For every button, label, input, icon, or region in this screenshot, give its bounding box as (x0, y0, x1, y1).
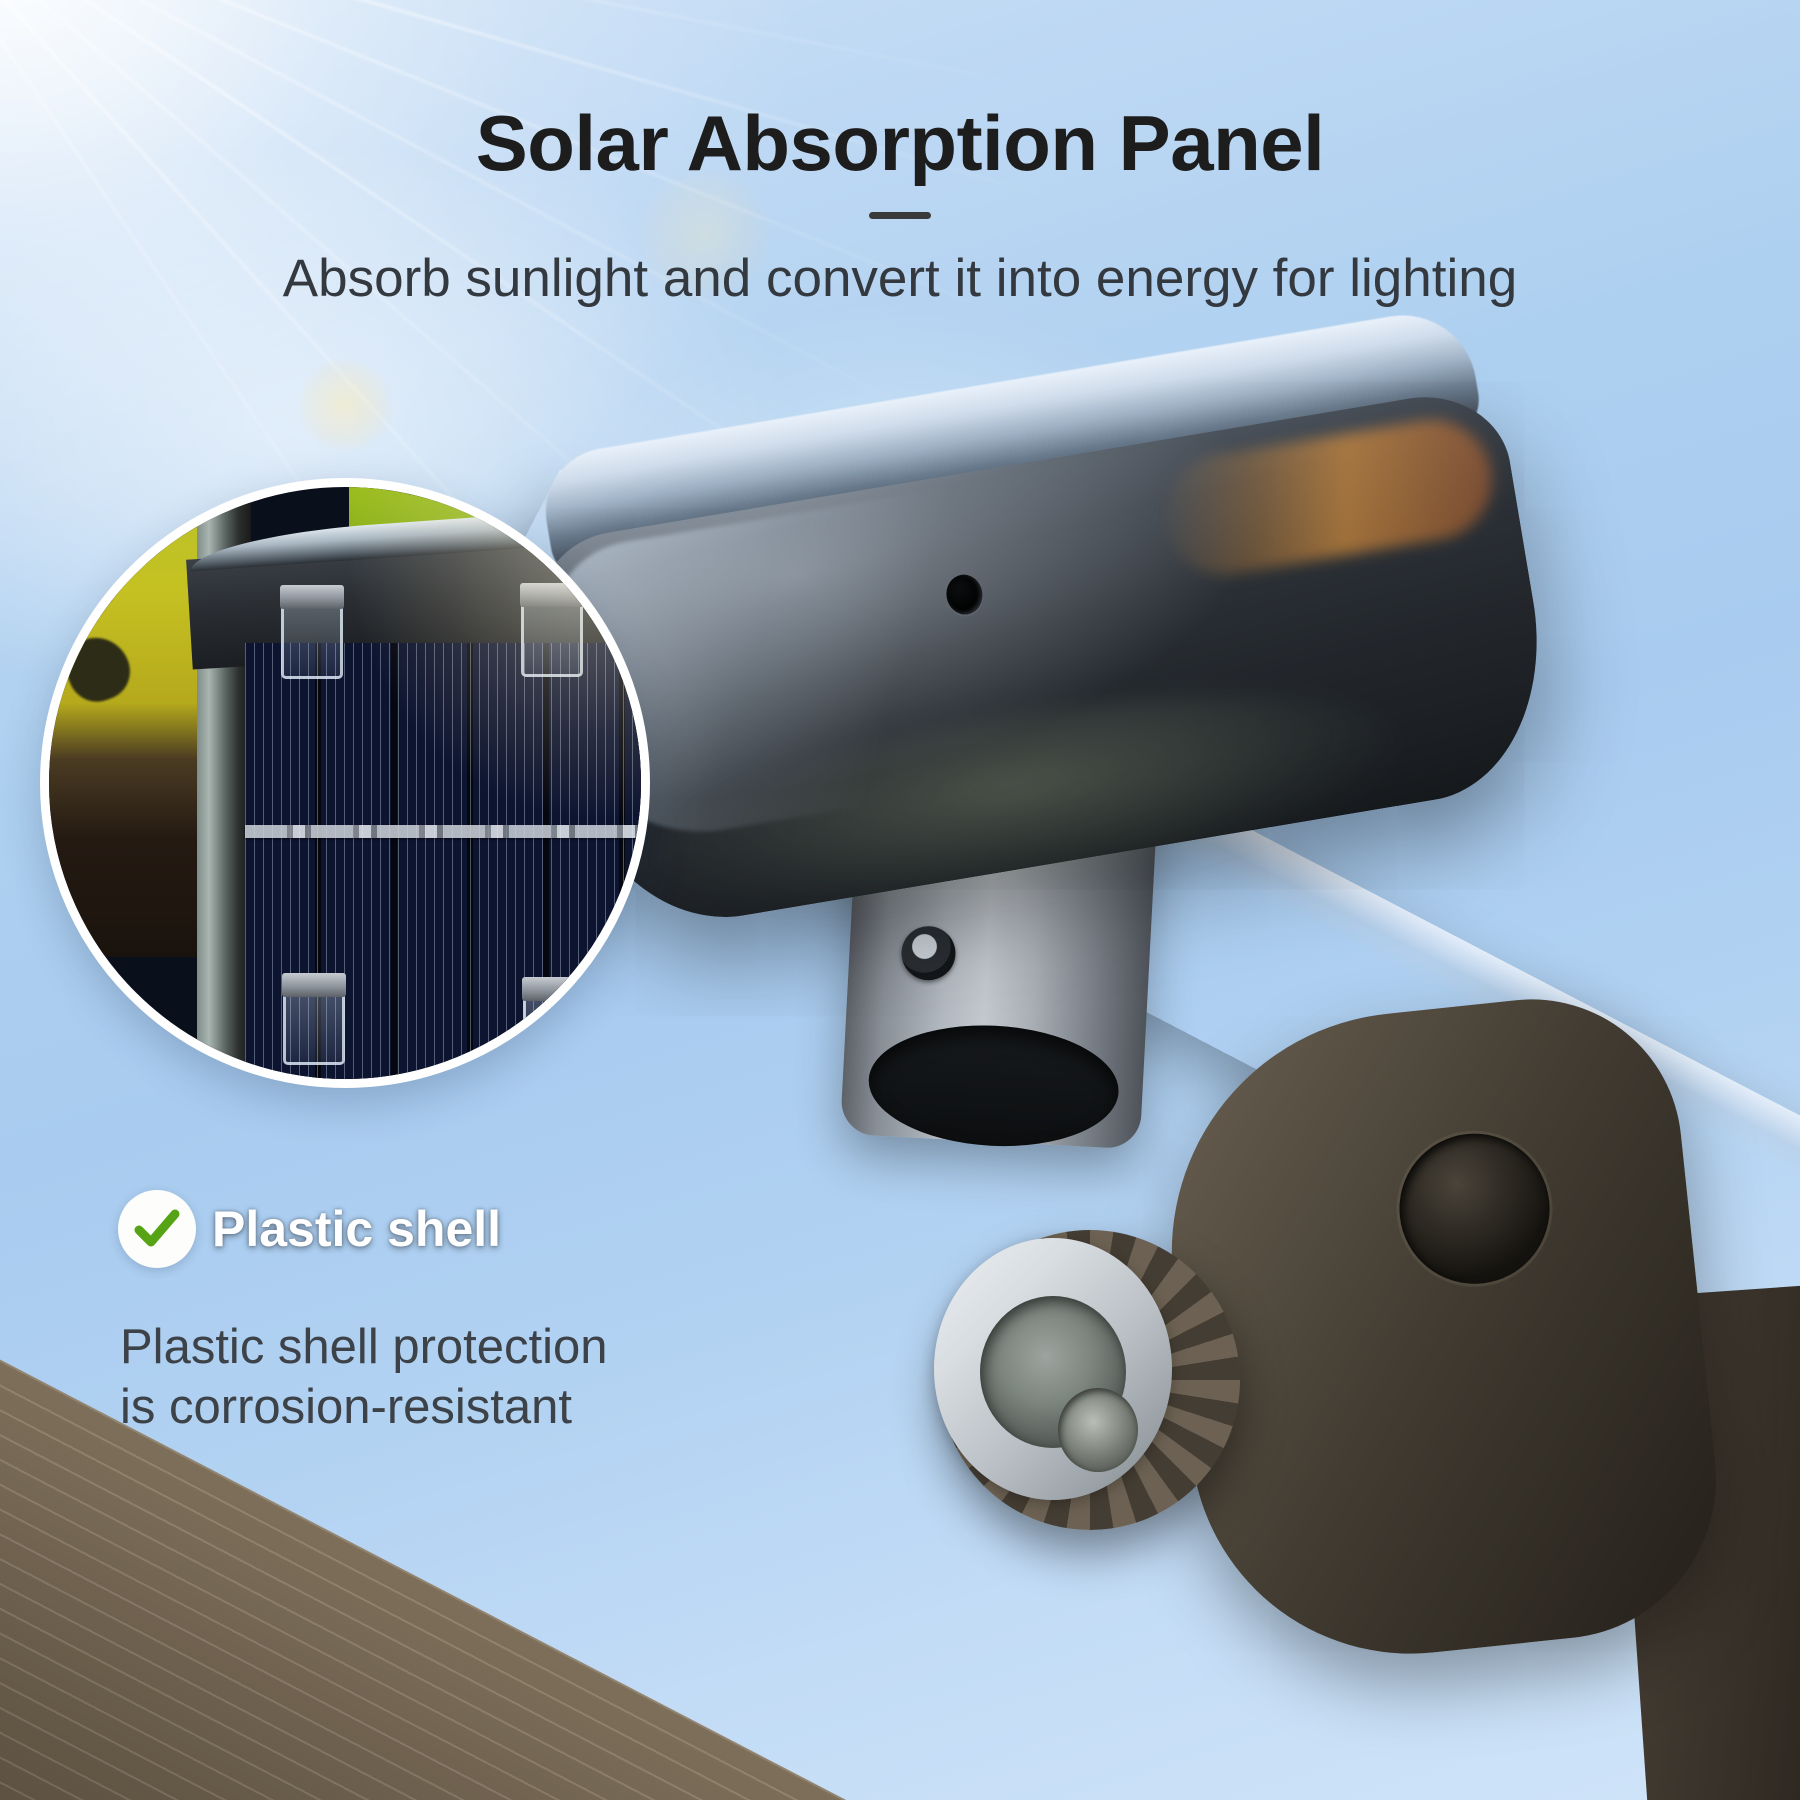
clip-head (522, 977, 586, 1001)
inset-sun-glare (349, 487, 650, 817)
knob-center (1058, 1388, 1138, 1472)
page-title: Solar Absorption Panel (0, 98, 1800, 189)
feature-caption: Plastic shell protection is corrosion-re… (120, 1318, 608, 1438)
check-mark-icon (118, 1190, 196, 1268)
inset-busbar (245, 825, 650, 838)
title-divider (869, 212, 931, 219)
knob-recess (980, 1296, 1126, 1448)
feature-badge: Plastic shell (118, 1190, 501, 1268)
post-open-end (866, 1019, 1122, 1152)
clip-head (280, 585, 344, 609)
scene-canvas: Solar Absorption Panel Absorb sunlight a… (0, 0, 1800, 1800)
inset-retaining-clip (283, 995, 345, 1065)
inset-retaining-clip (523, 999, 585, 1069)
feature-caption-line-2: is corrosion-resistant (120, 1378, 608, 1438)
knob-face (934, 1238, 1172, 1500)
pivot-bracket (1148, 985, 1732, 1676)
solar-lamp-head (517, 301, 1576, 1015)
clip-head (282, 973, 346, 997)
inset-retaining-clip (281, 607, 343, 679)
feature-badge-label: Plastic shell (212, 1200, 501, 1258)
page-subtitle: Absorb sunlight and convert it into ener… (0, 248, 1800, 309)
feature-caption-line-1: Plastic shell protection (120, 1318, 608, 1378)
inset-background-foliage (49, 487, 209, 957)
pivot-hole (1392, 1126, 1557, 1291)
solar-panel-closeup-circle (40, 478, 650, 1088)
adjustment-knob[interactable] (940, 1230, 1240, 1530)
